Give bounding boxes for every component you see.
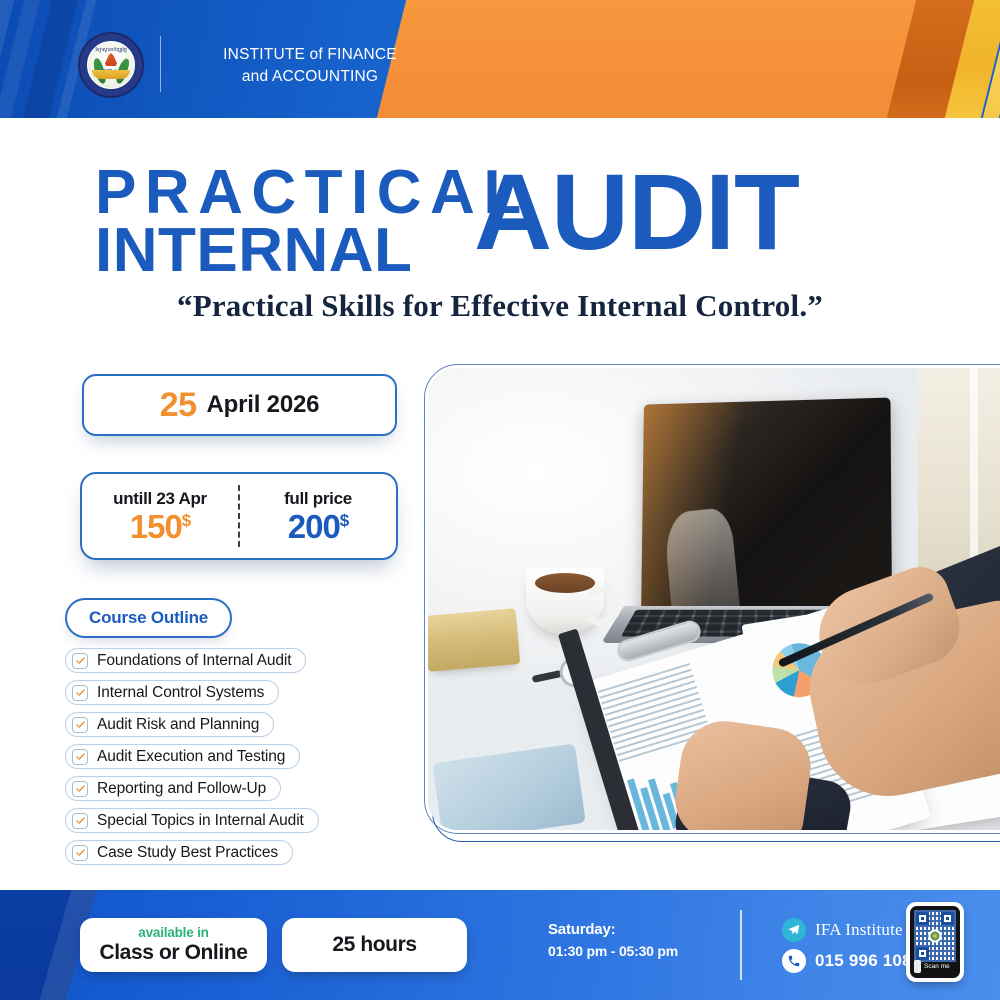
- availability-value: Class or Online: [99, 941, 247, 965]
- price-full-column: full price 200$: [240, 474, 396, 558]
- title-audit: AUDIT: [474, 158, 799, 266]
- price-early-currency: $: [182, 511, 190, 530]
- event-date-box: 25 April 2026: [82, 374, 397, 436]
- poster-root: វិទ្យាស្ថានហិរញ្ញវត្ថុ IFA INSTITUTE of …: [0, 0, 1000, 1000]
- telegram-handle: IFA Institute: [815, 920, 903, 940]
- photo-notebook: [428, 608, 520, 672]
- checkmark-icon: [72, 781, 88, 797]
- outline-item: Foundations of Internal Audit: [65, 648, 306, 673]
- checkmark-icon: [72, 717, 88, 733]
- outline-item: Audit Execution and Testing: [65, 744, 300, 769]
- logo-banner-ribbon: [92, 70, 130, 79]
- outline-item: Audit Risk and Planning: [65, 712, 274, 737]
- contact-block: IFA Institute 015 996 108: [782, 918, 912, 973]
- duration-card: 25 hours: [282, 918, 467, 972]
- schedule-day: Saturday:: [548, 921, 678, 938]
- outline-item-label: Internal Control Systems: [97, 684, 264, 702]
- logo-inner: វិទ្យាស្ថានហិរញ្ញវត្ថុ IFA: [88, 42, 134, 88]
- price-early-amount: 150$: [130, 510, 191, 543]
- footer-divider: [740, 910, 742, 980]
- institute-name: INSTITUTE of FINANCE and ACCOUNTING: [180, 44, 440, 89]
- availability-card: available in Class or Online: [80, 918, 267, 972]
- outline-item-label: Audit Execution and Testing: [97, 748, 285, 766]
- schedule-time: 01:30 pm - 05:30 pm: [548, 943, 678, 959]
- price-early-value: 150: [130, 508, 182, 545]
- outline-item: Internal Control Systems: [65, 680, 279, 705]
- title-tagline: “Practical Skills for Effective Internal…: [0, 288, 1000, 324]
- ifa-logo: វិទ្យាស្ថានហិរញ្ញវត្ថុ IFA: [78, 32, 144, 98]
- qr-code-image: [914, 910, 956, 962]
- phone-contact[interactable]: 015 996 108: [782, 949, 912, 973]
- price-full-amount: 200$: [288, 510, 349, 543]
- outline-item-label: Audit Risk and Planning: [97, 716, 259, 734]
- price-full-currency: $: [340, 511, 348, 530]
- magnifier-handle: [532, 670, 563, 683]
- outline-item-label: Special Topics in Internal Audit: [97, 812, 304, 830]
- header-banner: [0, 0, 1000, 118]
- outline-item: Reporting and Follow-Up: [65, 776, 281, 801]
- phone-number: 015 996 108: [815, 951, 912, 971]
- checkmark-icon: [72, 749, 88, 765]
- price-full-label: full price: [284, 489, 352, 509]
- price-early-column: untill 23 Apr 150$: [82, 474, 238, 558]
- schedule-block: Saturday: 01:30 pm - 05:30 pm: [548, 921, 678, 959]
- outline-item: Case Study Best Practices: [65, 840, 293, 865]
- title-internal: INTERNAL: [95, 220, 412, 282]
- phone-device-icon: [914, 960, 921, 973]
- price-early-label: untill 23 Apr: [113, 489, 207, 509]
- checkmark-icon: [72, 653, 88, 669]
- price-box: untill 23 Apr 150$ full price 200$: [80, 472, 398, 560]
- event-date-day: 25: [160, 386, 197, 425]
- event-date-month: April 2026: [207, 391, 320, 419]
- duration-value: 25 hours: [332, 933, 416, 957]
- logo-badge: វិទ្យាស្ថានហិរញ្ញវត្ថុ IFA: [78, 32, 144, 98]
- checkmark-icon: [72, 813, 88, 829]
- availability-label: available in: [138, 925, 208, 941]
- outline-item: Special Topics in Internal Audit: [65, 808, 319, 833]
- qr-caption: Scan me: [924, 963, 950, 970]
- phone-icon: [782, 949, 806, 973]
- qr-caption-row: Scan me: [914, 958, 956, 975]
- telegram-icon: [782, 918, 806, 942]
- header-divider: [160, 36, 161, 92]
- photo-coffee-cup: [526, 568, 604, 634]
- course-outline-heading: Course Outline: [65, 598, 232, 638]
- checkmark-icon: [72, 685, 88, 701]
- hero-photo: [428, 368, 1000, 830]
- price-full-value: 200: [288, 508, 340, 545]
- outline-item-label: Reporting and Follow-Up: [97, 780, 266, 798]
- qr-finder-icon: [916, 912, 929, 925]
- course-outline-list: Foundations of Internal AuditInternal Co…: [65, 648, 319, 865]
- qr-finder-icon: [941, 912, 954, 925]
- checkmark-icon: [72, 845, 88, 861]
- title-practical: PRACTICAL: [95, 162, 530, 224]
- telegram-contact[interactable]: IFA Institute: [782, 918, 912, 942]
- qr-center-logo: [929, 930, 942, 943]
- outline-item-label: Foundations of Internal Audit: [97, 652, 291, 670]
- institute-name-line2: and ACCOUNTING: [180, 66, 440, 88]
- outline-item-label: Case Study Best Practices: [97, 844, 278, 862]
- institute-name-line1: INSTITUTE of FINANCE: [180, 44, 440, 66]
- qr-code-inner: Scan me: [910, 906, 960, 978]
- qr-code-card[interactable]: Scan me: [906, 902, 964, 982]
